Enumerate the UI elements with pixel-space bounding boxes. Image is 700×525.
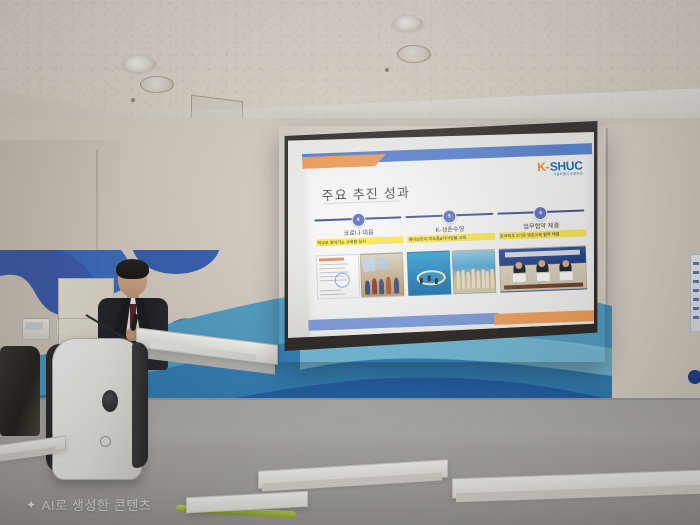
service-robot[interactable] bbox=[44, 338, 148, 478]
lecture-room-screenshot: K- SHUC 서울특별시수영연맹 주요 추진 성과 4 코로나 대응 학교로 … bbox=[0, 0, 700, 525]
achievement-columns: 4 코로나 대응 학교로 찾아가는 교육봉 실시 bbox=[314, 203, 588, 313]
robot-power-button[interactable] bbox=[100, 436, 111, 447]
smoke-sensor-icon bbox=[131, 98, 135, 102]
pool-training-photo-image bbox=[407, 251, 452, 297]
swimmer-shape bbox=[420, 278, 423, 284]
robot-side-panel bbox=[132, 342, 148, 468]
robot-body bbox=[52, 338, 142, 480]
ceremony-table bbox=[504, 283, 583, 290]
person-shape bbox=[379, 279, 385, 294]
person-head bbox=[562, 260, 569, 267]
swimmer-shape bbox=[434, 278, 437, 284]
wall-dot-decor bbox=[688, 370, 700, 384]
person-shape bbox=[365, 281, 371, 295]
achievement-column: 4 코로나 대응 학교로 찾아가는 교육봉 실시 bbox=[314, 210, 405, 313]
person-shape bbox=[486, 271, 490, 288]
doc-header-bar bbox=[319, 258, 344, 262]
hanging-jacket bbox=[0, 346, 40, 436]
signed-agreement bbox=[535, 272, 550, 283]
signing-ceremony-photo-image bbox=[498, 245, 587, 292]
round-vent-icon bbox=[140, 76, 174, 93]
column-media bbox=[407, 249, 496, 296]
presenter-hair bbox=[116, 259, 149, 279]
doc-seal-icon bbox=[335, 272, 351, 288]
wall-sign-text bbox=[693, 262, 699, 322]
ai-content-watermark: ✦ AI로 생성한 콘텐츠 bbox=[26, 495, 151, 514]
signed-agreement bbox=[558, 271, 573, 282]
column-badge: 6 bbox=[533, 206, 548, 221]
sparkle-icon: ✦ bbox=[26, 498, 37, 512]
person-shape bbox=[471, 268, 475, 288]
certificate-document-image bbox=[316, 254, 361, 300]
person-shape bbox=[481, 269, 485, 288]
classroom-window bbox=[363, 257, 375, 272]
downlight-icon bbox=[393, 16, 423, 31]
person-shape bbox=[466, 272, 470, 289]
achievement-column: 6 업무협약 체결 전국최초 3기관 생존교육 협약 체결 bbox=[497, 203, 588, 306]
column-badge: 5 bbox=[442, 209, 457, 224]
presentation-slide: K- SHUC 서울특별시수영연맹 주요 추진 성과 4 코로나 대응 학교로 … bbox=[302, 143, 599, 340]
downlight-icon bbox=[122, 56, 156, 72]
person-shape bbox=[372, 278, 378, 295]
person-shape bbox=[457, 271, 461, 289]
classroom-photo-image bbox=[360, 252, 405, 298]
person-shape bbox=[386, 276, 392, 294]
doc-line bbox=[320, 293, 345, 295]
robot-sensor-icon bbox=[102, 390, 118, 412]
classroom-window bbox=[377, 256, 388, 269]
projection-screen: K- SHUC 서울특별시수영연맹 주요 추진 성과 4 코로나 대응 학교로 … bbox=[283, 121, 599, 351]
smoke-sensor-icon bbox=[385, 68, 389, 72]
person-shape bbox=[461, 269, 465, 288]
thermostat-display bbox=[25, 322, 43, 330]
achievement-column: 5 K-생존수영 베이브릿지 파도풀&다이빙풀 교육 bbox=[406, 207, 497, 310]
beach-group-photo-image bbox=[451, 249, 496, 295]
doc-line bbox=[319, 267, 345, 269]
logo-k-text: K- bbox=[537, 161, 549, 173]
signed-agreement bbox=[511, 273, 526, 284]
column-media bbox=[498, 245, 587, 292]
ceremony-banner bbox=[505, 250, 580, 258]
column-badge: 4 bbox=[351, 213, 366, 228]
doc-line bbox=[320, 290, 341, 292]
doc-line bbox=[319, 263, 348, 265]
column-media bbox=[316, 252, 405, 299]
screen-surface: K- SHUC 서울특별시수영연맹 주요 추진 성과 4 코로나 대응 학교로 … bbox=[288, 132, 594, 338]
watermark-text: AI로 생성한 콘텐츠 bbox=[42, 495, 152, 514]
right-wall bbox=[604, 124, 700, 424]
person-shape bbox=[490, 269, 494, 288]
round-vent-icon bbox=[397, 45, 431, 63]
person-shape bbox=[476, 271, 480, 289]
person-shape bbox=[393, 278, 399, 294]
